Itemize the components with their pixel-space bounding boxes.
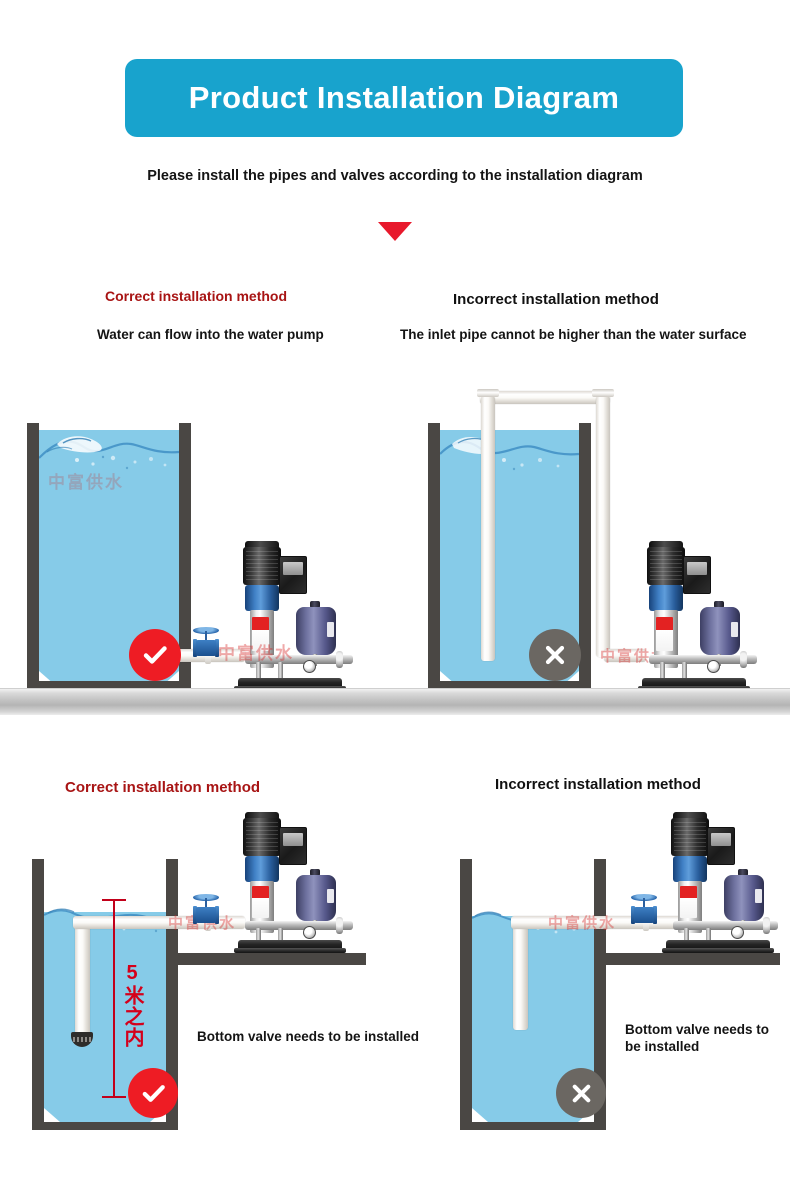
gate-valve-row1-correct: [192, 627, 220, 659]
valve-body: [196, 907, 216, 923]
status-badge-incorrect-row2: [556, 1068, 606, 1118]
controller-screen: [283, 833, 303, 846]
gate-valve-row2-incorrect: [630, 894, 658, 926]
pipe-elbow-left: [477, 389, 499, 397]
check-icon: [139, 1079, 168, 1108]
gate-valve-row2-correct: [192, 894, 220, 926]
controller-screen: [283, 562, 303, 575]
cross-icon: [540, 640, 570, 670]
dimension-label-5m: 5米之内: [118, 962, 147, 1048]
manifold-flange: [763, 917, 770, 934]
tank-wall-bottom: [32, 1122, 178, 1130]
panel-caption-row1-correct: Water can flow into the water pump: [97, 327, 324, 342]
pump-shelf-row2-incorrect: [594, 953, 780, 965]
manifold-flange: [336, 651, 343, 668]
panel-caption-row1-incorrect: The inlet pipe cannot be higher than the…: [400, 327, 747, 342]
panel-heading-row2-incorrect: Incorrect installation method: [495, 776, 701, 793]
inlet-pipe-down-into-tank: [481, 396, 495, 661]
tank-wall-left: [428, 423, 440, 689]
pressure-tank-label: [755, 889, 762, 903]
panel-heading-row1-correct: Correct installation method: [105, 288, 287, 304]
pump-head: [245, 856, 279, 882]
pump-head: [673, 856, 707, 882]
title-banner: Product Installation Diagram: [125, 59, 683, 137]
pump-label: [656, 617, 673, 651]
tank-wall-right: [579, 423, 591, 689]
pressure-gauge: [303, 926, 316, 939]
panel-caption-row2-incorrect: Bottom valve needs to be installed: [625, 1022, 775, 1056]
motor-fins: [246, 551, 278, 581]
pump-motor: [243, 547, 281, 585]
page-title: Product Installation Diagram: [189, 80, 619, 116]
valve-body: [196, 640, 216, 656]
controller-screen: [711, 833, 731, 846]
status-badge-correct-row1: [129, 629, 181, 681]
pump-motor: [671, 818, 709, 856]
pump-head: [245, 585, 279, 611]
pressure-gauge: [731, 926, 744, 939]
pressure-gauge: [707, 660, 720, 673]
tank-wall-bottom: [460, 1122, 606, 1130]
controller-box: [279, 827, 307, 865]
tank-wall-left: [32, 859, 44, 1130]
pump-motor: [243, 818, 281, 856]
page-subtitle: Please install the pipes and valves acco…: [0, 168, 790, 184]
dimension-tick-top: [102, 899, 126, 901]
dimension-line: [113, 899, 115, 1098]
suction-pipe-row1-incorrect: [604, 649, 646, 662]
motor-fins: [246, 822, 278, 852]
pump-label: [252, 617, 269, 651]
inlet-pipe-top-horizontal: [480, 391, 610, 404]
tank-wall-left: [460, 859, 472, 1130]
inlet-pipe-down-to-pump: [596, 396, 610, 657]
installation-diagram-page: Product Installation Diagram Please inst…: [0, 0, 790, 1198]
panel-caption-row2-correct: Bottom valve needs to be installed: [197, 1029, 427, 1046]
suction-riser-pipe-row2-correct: [75, 918, 90, 1036]
pressure-tank-label: [327, 889, 334, 903]
controller-screen: [687, 562, 707, 575]
pressure-gauge: [303, 660, 316, 673]
manifold-flange: [740, 651, 747, 668]
pressure-tank-label: [327, 622, 334, 637]
motor-fins: [650, 551, 682, 581]
tank-wall-left: [27, 423, 39, 689]
suction-riser-pipe-row2-incorrect: [513, 918, 528, 1030]
panel-heading-row1-incorrect: Incorrect installation method: [453, 291, 659, 308]
dimension-tick-bottom: [102, 1096, 126, 1098]
ground-strip-row1: [0, 688, 790, 715]
controller-box: [279, 556, 307, 594]
panel-heading-row2-correct: Correct installation method: [65, 779, 260, 796]
controller-box: [707, 827, 735, 865]
controller-box: [683, 556, 711, 594]
check-icon: [140, 640, 170, 670]
motor-fins: [674, 822, 706, 852]
pump-head: [649, 585, 683, 611]
pressure-tank-label: [731, 622, 738, 637]
manifold-flange: [336, 917, 343, 934]
status-badge-incorrect-row1: [529, 629, 581, 681]
pump-label: [680, 886, 697, 918]
pump-shelf-row2-correct: [166, 953, 366, 965]
down-arrow-icon: [378, 222, 412, 241]
cross-icon: [567, 1079, 596, 1108]
pump-motor: [647, 547, 685, 585]
pipe-elbow-right: [592, 389, 614, 397]
status-badge-correct-row2: [128, 1068, 178, 1118]
pump-label: [252, 886, 269, 918]
valve-body: [634, 907, 654, 923]
